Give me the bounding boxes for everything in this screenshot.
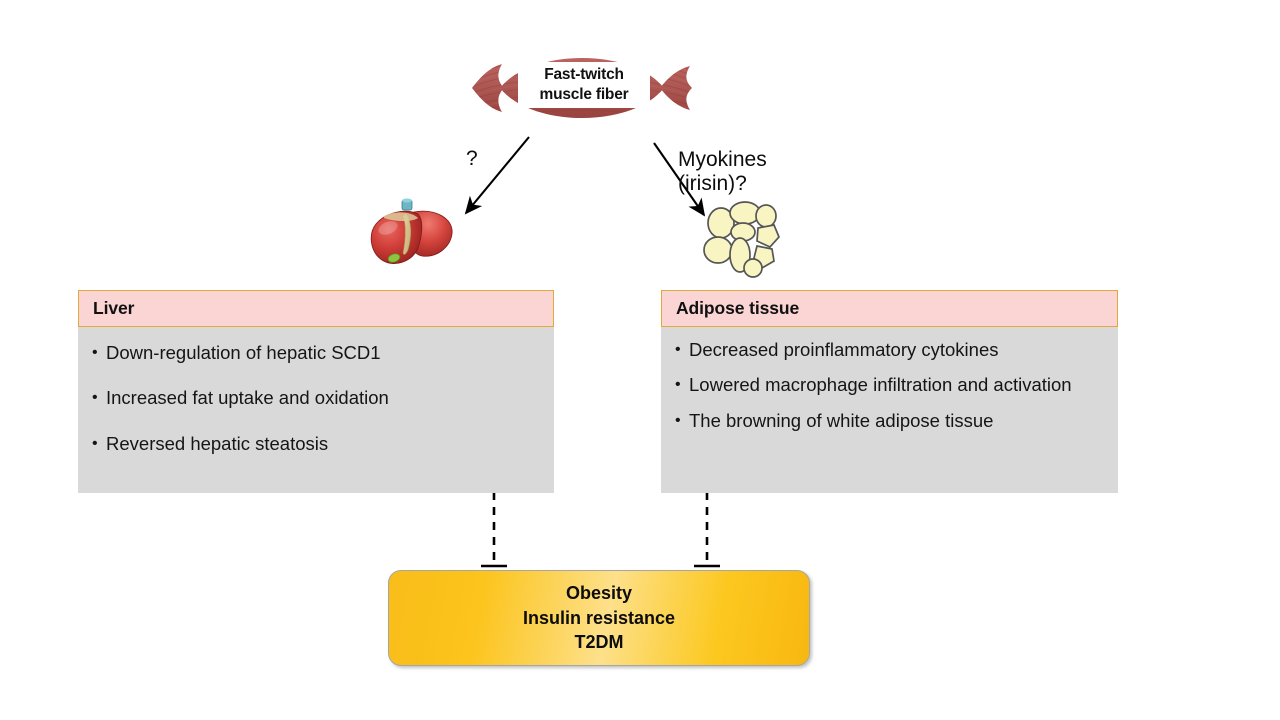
list-item: • The browning of white adipose tissue	[675, 409, 1104, 433]
inhibition-connector-liver	[481, 492, 507, 566]
list-item: • Increased fat uptake and oxidation	[92, 386, 540, 410]
bullet-icon: •	[675, 373, 689, 396]
inhibition-connector-adipose	[694, 492, 720, 566]
list-item: • Reversed hepatic steatosis	[92, 432, 540, 456]
outcome-box: Obesity Insulin resistance T2DM	[388, 570, 810, 666]
liver-panel-body: • Down-regulation of hepatic SCD1 • Incr…	[78, 327, 554, 493]
diagram-canvas: Fast-twitch muscle fiber	[0, 0, 1280, 720]
list-item: • Down-regulation of hepatic SCD1	[92, 341, 540, 365]
bullet-icon: •	[92, 341, 106, 364]
list-item-label: Decreased proinflammatory cytokines	[689, 338, 1104, 362]
list-item-label: Lowered macrophage infiltration and acti…	[689, 373, 1104, 397]
list-item-label: Reversed hepatic steatosis	[106, 432, 540, 456]
arrow-label-myokines: Myokines (irisin)?	[678, 148, 767, 195]
arrow-label-liver-question: ?	[466, 147, 478, 171]
bullet-icon: •	[675, 338, 689, 361]
list-item-label: The browning of white adipose tissue	[689, 409, 1104, 433]
adipose-panel-title: Adipose tissue	[661, 290, 1118, 327]
adipose-cells-icon	[700, 198, 786, 282]
list-item-label: Increased fat uptake and oxidation	[106, 386, 540, 410]
list-item-label: Down-regulation of hepatic SCD1	[106, 341, 540, 365]
muscle-fiber-label: Fast-twitch muscle fiber	[518, 62, 650, 108]
list-item: • Lowered macrophage infiltration and ac…	[675, 373, 1104, 397]
liver-organ-icon	[362, 196, 458, 276]
bullet-icon: •	[92, 432, 106, 455]
bullet-icon: •	[675, 409, 689, 432]
list-item: • Decreased proinflammatory cytokines	[675, 338, 1104, 362]
adipose-panel: Adipose tissue • Decreased proinflammato…	[661, 290, 1118, 493]
liver-panel-title: Liver	[78, 290, 554, 327]
liver-panel: Liver • Down-regulation of hepatic SCD1 …	[78, 290, 554, 493]
bullet-icon: •	[92, 386, 106, 409]
adipose-panel-body: • Decreased proinflammatory cytokines • …	[661, 327, 1118, 493]
outcome-label: Obesity Insulin resistance T2DM	[523, 581, 675, 654]
